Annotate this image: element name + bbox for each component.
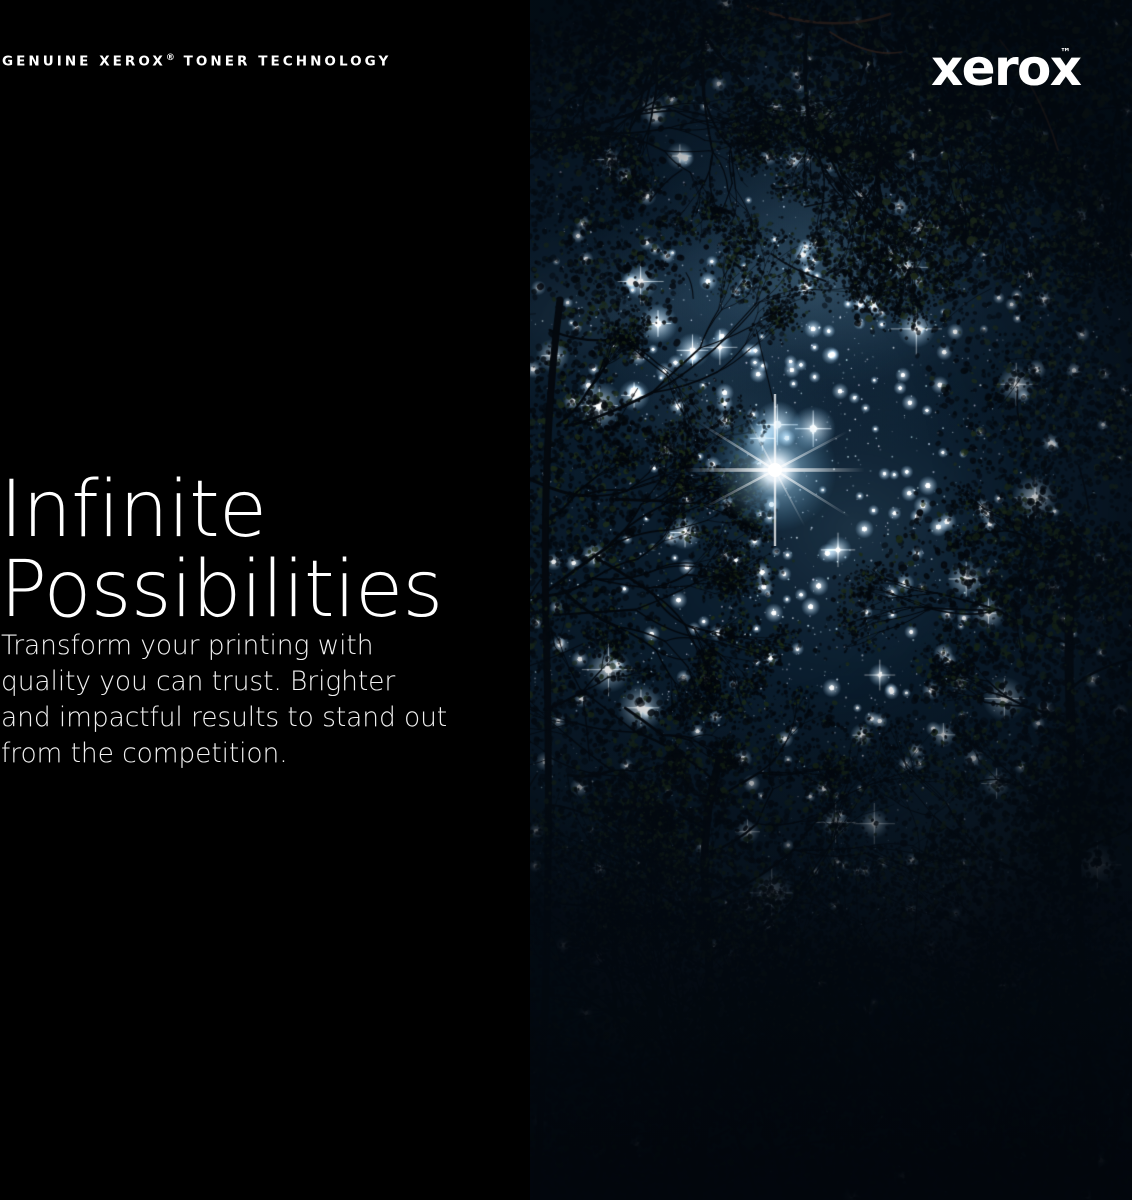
night-sky-forest-photo: [530, 0, 1132, 1200]
registered-trademark-icon: ®: [166, 53, 176, 63]
headline-line-2: Possibilities: [0, 550, 520, 630]
xerox-toner-hero-poster: GENUINE XEROX® TONER TECHNOLOGY Infinite…: [0, 0, 1132, 1200]
trademark-icon: ™: [1060, 47, 1071, 58]
body-copy: Transform your printing with quality you…: [1, 628, 449, 772]
eyebrow-text-after: TONER TECHNOLOGY: [184, 54, 392, 70]
left-black-panel: GENUINE XEROX® TONER TECHNOLOGY Infinite…: [0, 0, 530, 1200]
headline-line-1: Infinite: [0, 470, 520, 550]
xerox-logo: xerox ™: [931, 44, 1080, 92]
page-title: Infinite Possibilities: [0, 470, 520, 630]
xerox-wordmark: xerox: [931, 44, 1080, 92]
eyebrow-kicker: GENUINE XEROX® TONER TECHNOLOGY: [2, 54, 391, 69]
photo-bottom-shadow: [530, 0, 1132, 1200]
eyebrow-text-before: GENUINE XEROX: [2, 54, 166, 70]
